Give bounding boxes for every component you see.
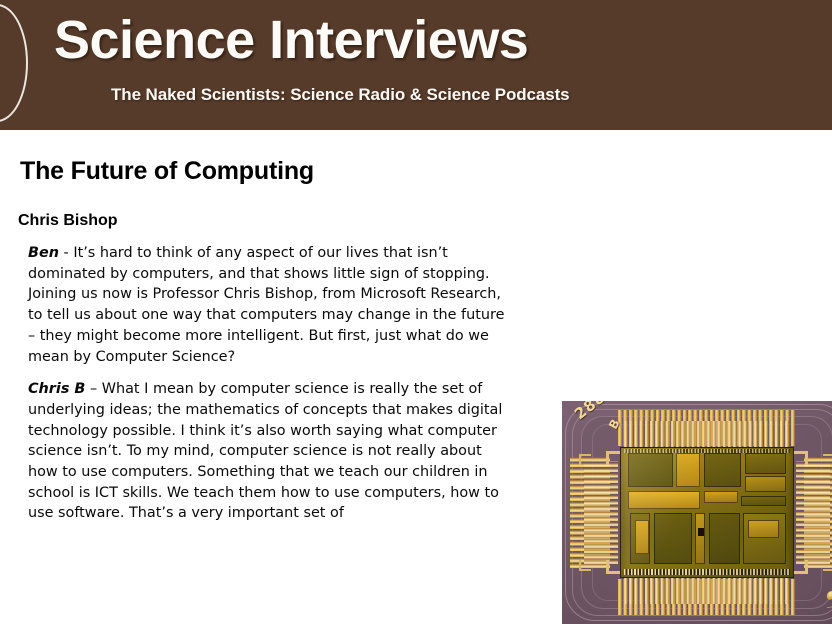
site-subtitle: The Naked Scientists: Science Radio & Sc…: [111, 85, 570, 105]
bond-wires-bottom: [624, 576, 790, 604]
transcript-text: What I mean by computer science is reall…: [28, 381, 502, 521]
registration-bracket-outer-bottom-right: [823, 560, 832, 571]
site-header: Science Interviews The Naked Scientists:…: [0, 0, 832, 130]
registration-bracket-bottom-right: [792, 560, 808, 574]
silicon-die: [620, 447, 794, 578]
bond-wires-right: [796, 461, 830, 564]
interview-transcript: Ben - It’s hard to think of any aspect o…: [28, 243, 508, 524]
transcript-entry: Ben - It’s hard to think of any aspect o…: [28, 243, 508, 367]
article-byline: Chris Bishop: [18, 212, 118, 230]
registration-bracket-outer-top-left: [579, 454, 591, 465]
speaker-name: Chris B: [28, 381, 85, 397]
circle-logo-icon: [0, 4, 28, 122]
page-title: The Future of Computing: [20, 157, 314, 186]
speaker-separator: –: [85, 381, 101, 397]
site-title: Science Interviews: [54, 12, 528, 69]
registration-bracket-outer-top-right: [823, 454, 832, 465]
registration-bracket-outer-bottom-left: [579, 560, 591, 571]
chip-photo-surface: 2888 B: [562, 401, 832, 624]
registration-bracket-top-right: [792, 451, 808, 465]
bond-wires-left: [584, 461, 618, 564]
speaker-name: Ben: [28, 245, 59, 261]
transcript-entry: Chris B – What I mean by computer scienc…: [28, 379, 508, 524]
speaker-separator: -: [59, 245, 73, 261]
transcript-text: It’s hard to think of any aspect of our …: [28, 245, 504, 365]
die-sheen-overlay: [621, 448, 793, 577]
microchip-die-photograph: 2888 B: [562, 401, 832, 624]
